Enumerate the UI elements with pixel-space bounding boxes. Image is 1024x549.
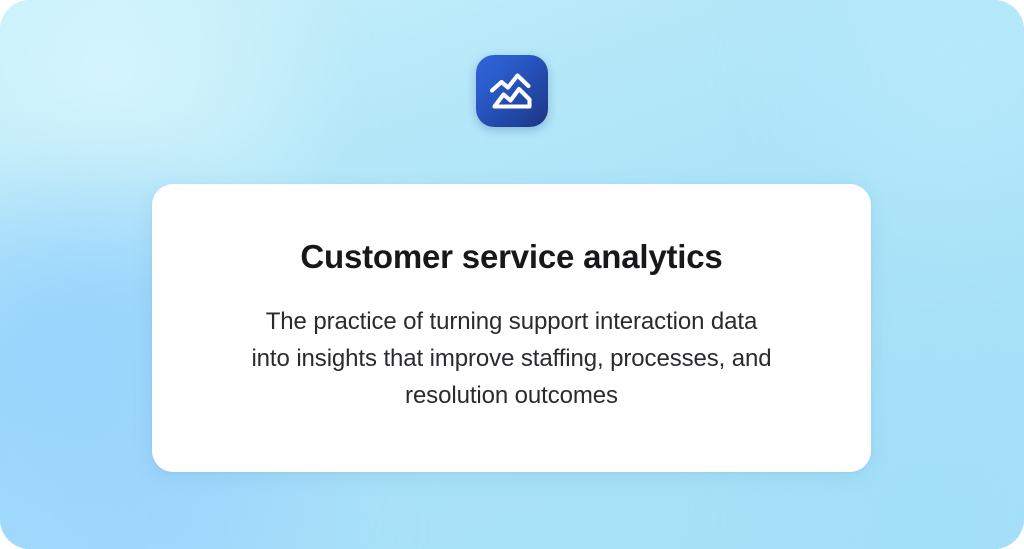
definition-text: The practice of turning support interact… (247, 303, 777, 415)
definition-card: Customer service analytics The practice … (152, 184, 871, 472)
page-title: Customer service analytics (300, 236, 722, 277)
definition-card-canvas: Customer service analytics The practice … (0, 0, 1024, 549)
app-logo (476, 55, 548, 127)
area-chart-icon (488, 67, 536, 115)
